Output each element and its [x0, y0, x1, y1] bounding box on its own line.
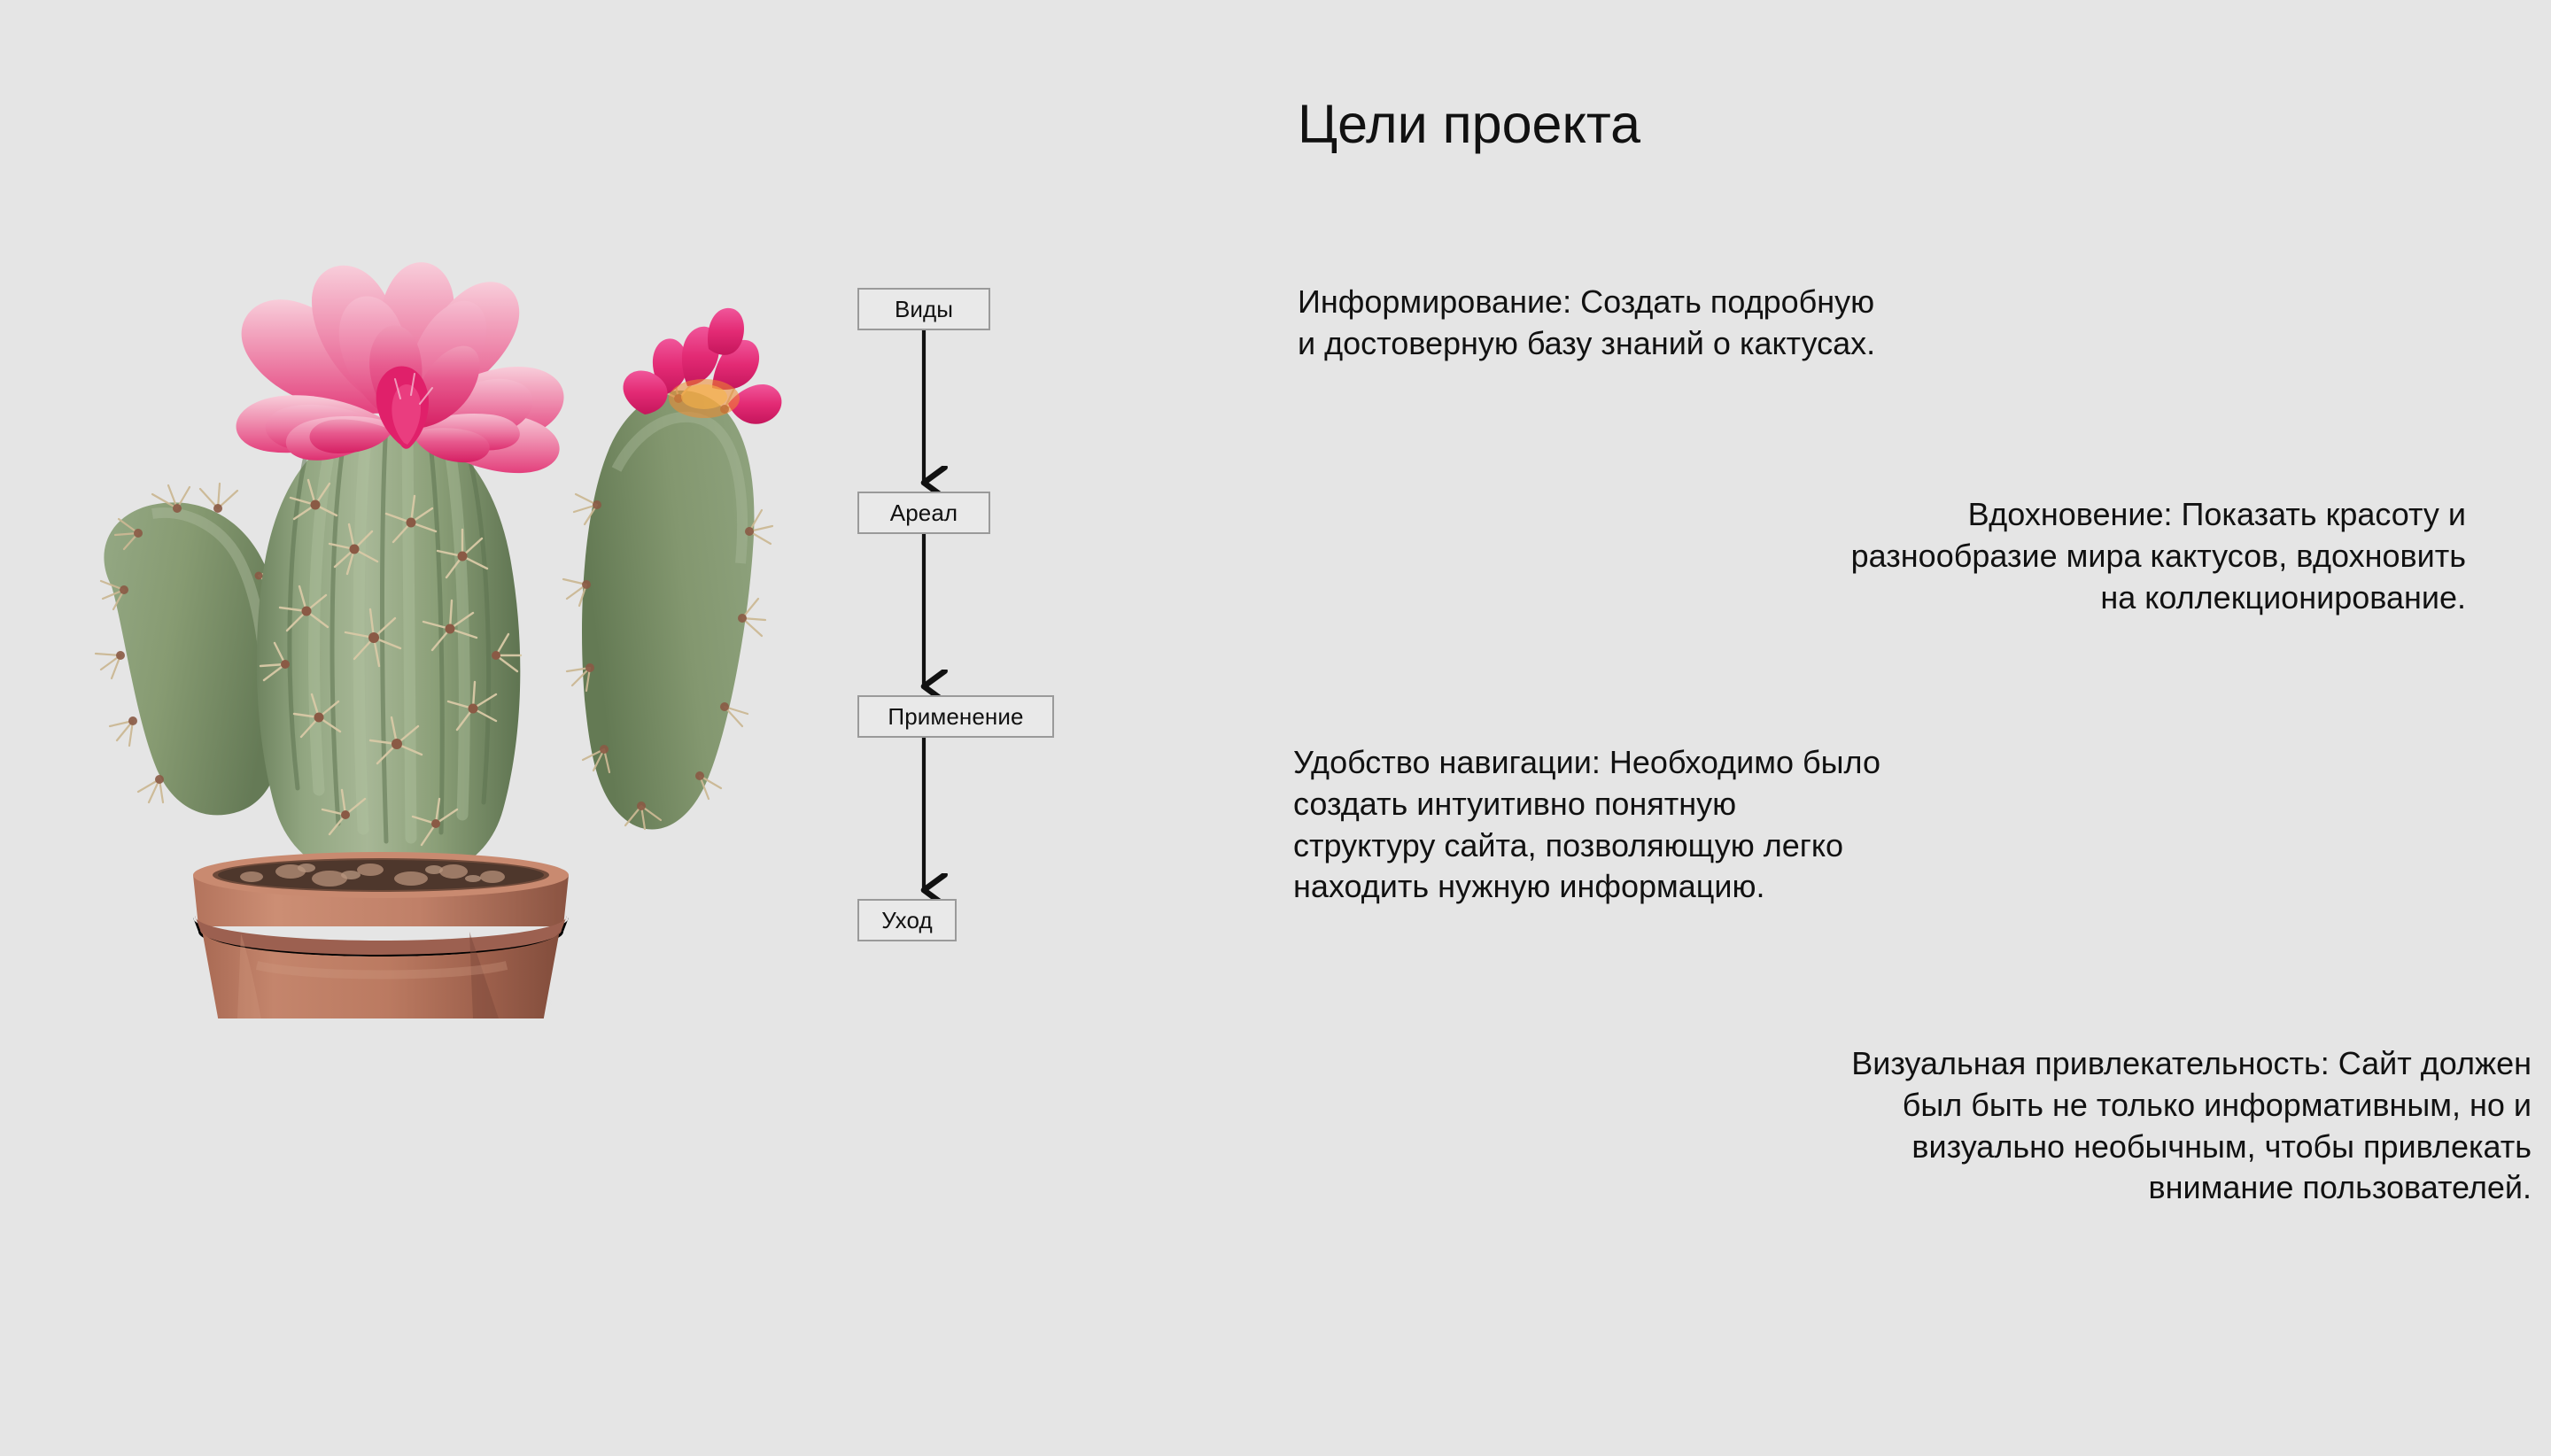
goal-udobstvo-navigacii: Удобство навигации: Необходимо было созд…: [1293, 742, 1880, 908]
goal-line: на коллекционирование.: [1851, 577, 2466, 619]
goal-line: Вдохновение: Показать красоту и: [1851, 494, 2466, 536]
goal-line: структуру сайта, позволяющую легко: [1293, 825, 1880, 867]
cactus-flower-small: [623, 308, 781, 424]
goal-vizualnaya-privlekatelnost: Визуальная привлекательность: Сайт долже…: [1851, 1043, 2532, 1209]
cactus-flower-large: [236, 262, 564, 473]
slide-root: Виды Ареал Применение Уход Цели проекта …: [0, 0, 2551, 1456]
goal-line: и достоверную базу знаний о кактусах.: [1298, 323, 1875, 365]
goal-line: разнообразие мира кактусов, вдохновить: [1851, 536, 2466, 577]
flow-node-vidy[interactable]: Виды: [857, 288, 990, 330]
goal-line: создать интуитивно понятную: [1293, 784, 1880, 825]
goal-line: был быть не только информативным, но и: [1851, 1085, 2532, 1127]
cactus-photo: [53, 133, 797, 1018]
goal-line: Информирование: Создать подробную: [1298, 282, 1875, 323]
structure-flowchart: Виды Ареал Применение Уход: [824, 288, 1116, 961]
goal-line: внимание пользователей.: [1851, 1167, 2532, 1209]
goal-informirovanie: Информирование: Создать подробную и дост…: [1298, 282, 1875, 365]
terracotta-pot: [193, 852, 569, 1018]
flow-node-primenenie[interactable]: Применение: [857, 695, 1054, 738]
goal-line: находить нужную информацию.: [1293, 866, 1880, 908]
cactus-body: [257, 416, 521, 882]
page-title: Цели проекта: [1298, 96, 1640, 152]
goal-line: Визуальная привлекательность: Сайт долже…: [1851, 1043, 2532, 1085]
flow-node-areal[interactable]: Ареал: [857, 492, 990, 534]
goal-vdohnovenie: Вдохновение: Показать красоту и разнообр…: [1851, 494, 2466, 618]
cactus-pad-right: [563, 374, 772, 830]
goal-line: визуально необычным, чтобы привлекать: [1851, 1127, 2532, 1168]
goal-line: Удобство навигации: Необходимо было: [1293, 742, 1880, 784]
flow-node-uhod[interactable]: Уход: [857, 899, 957, 941]
